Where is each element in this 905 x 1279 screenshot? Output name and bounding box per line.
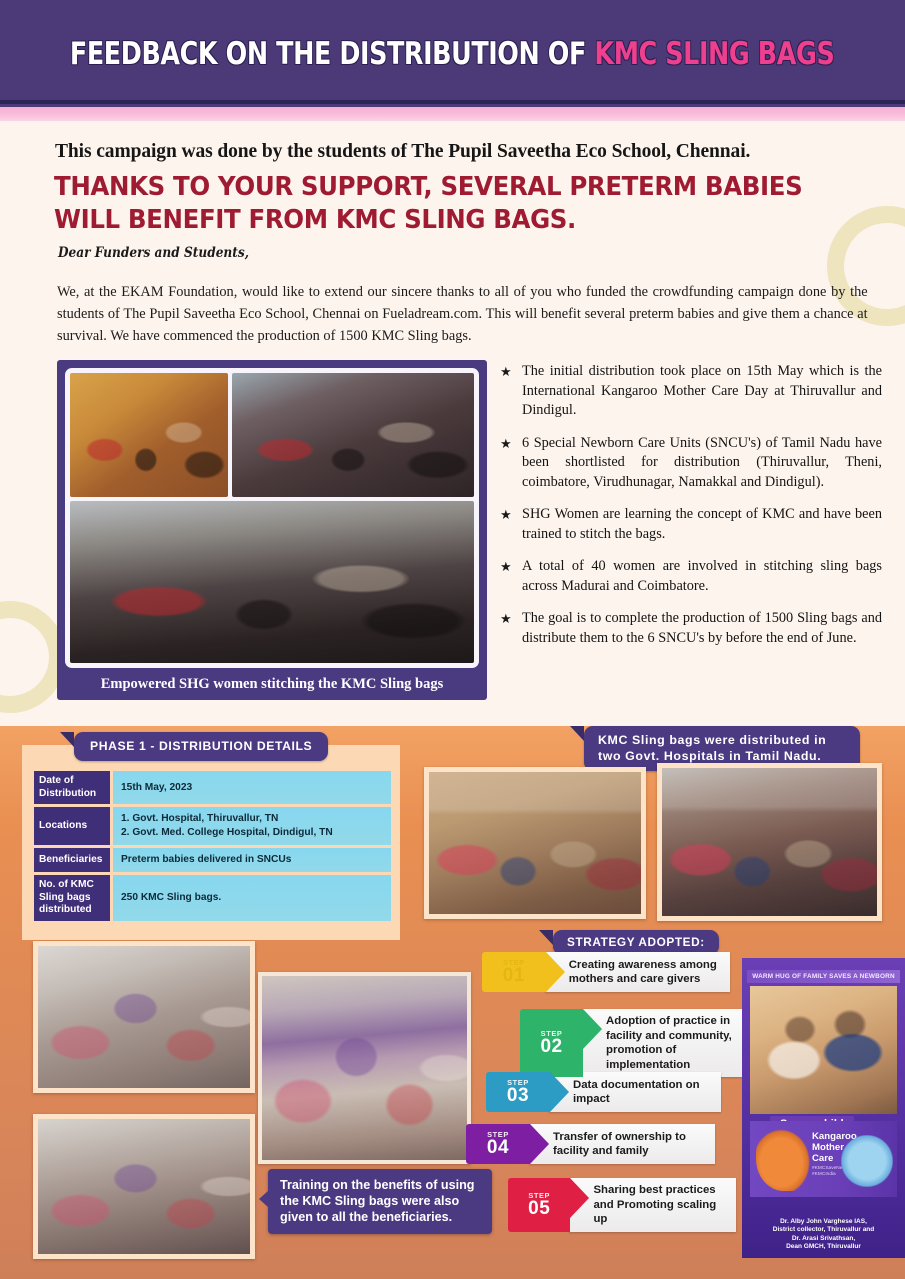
strategy-step-02: STEP 02 Adoption of practice in facility…: [520, 1009, 748, 1077]
step-word: STEP: [528, 1192, 550, 1199]
intro-paragraph: We, at the EKAM Foundation, would like t…: [57, 281, 868, 347]
step-word: STEP: [541, 1030, 563, 1037]
kangaroo-icon: [756, 1127, 812, 1191]
star-icon: ★: [500, 362, 522, 421]
list-item-text: A total of 40 women are involved in stit…: [522, 557, 882, 596]
table-row-value: Preterm babies delivered in SNCUs: [113, 848, 391, 872]
collage-photo-2: [232, 373, 474, 497]
table-row: No. of KMC Sling bags distributed 250 KM…: [34, 875, 391, 921]
highlights-list: ★ The initial distribution took place on…: [500, 362, 882, 661]
page-title-main: FEEDBACK ON THE DISTRIBUTION OF: [70, 36, 595, 72]
list-item: ★ SHG Women are learning the concept of …: [500, 505, 882, 544]
step-word: STEP: [507, 1079, 529, 1086]
table-row-value: 1. Govt. Hospital, Thiruvallur, TN 2. Go…: [113, 807, 391, 845]
table-row-value: 250 KMC Sling bags.: [113, 875, 391, 921]
step-chip: STEP 01: [482, 952, 546, 992]
step-number: 05: [528, 1199, 550, 1218]
salutation: Dear Funders and Students,: [58, 245, 249, 261]
table-row-key: Beneficiaries: [34, 848, 110, 872]
collage-row-bottom: [70, 501, 474, 663]
intro-section: This campaign was done by the students o…: [0, 121, 905, 726]
list-item-text: 6 Special Newborn Care Units (SNCU's) of…: [522, 434, 882, 493]
poster-credits: Dr. Alby John Varghese IAS, District col…: [742, 1218, 905, 1252]
poster-photo: [750, 986, 897, 1114]
slingbags-display-photo: [258, 972, 471, 1164]
photo-image: [38, 1119, 250, 1254]
caption-arrow: [259, 1191, 268, 1207]
photo-image: [429, 772, 641, 914]
step-label: Adoption of practice in facility and com…: [582, 1009, 748, 1077]
strategy-step-03: STEP 03 Data documentation on impact: [486, 1072, 736, 1112]
list-item: ★ A total of 40 women are involved in st…: [500, 557, 882, 596]
star-icon: ★: [500, 434, 522, 493]
list-item-text: The goal is to complete the production o…: [522, 609, 882, 648]
table-row: Locations 1. Govt. Hospital, Thiruvallur…: [34, 807, 391, 845]
pink-band: [0, 107, 905, 121]
step-label: Creating awareness among mothers and car…: [545, 952, 730, 992]
strategy-step-04: STEP 04 Transfer of ownership to facilit…: [466, 1124, 724, 1164]
step-number: 03: [507, 1086, 529, 1105]
header-divider: [0, 100, 905, 104]
kmc-ribbon-label: KMC Sling bags were distributed in two G…: [598, 733, 826, 763]
step-chip: STEP 02: [520, 1009, 583, 1077]
star-icon: ★: [500, 557, 522, 596]
strategy-step-05: STEP 05 Sharing best practices and Promo…: [508, 1178, 736, 1232]
table-row-key: No. of KMC Sling bags distributed: [34, 875, 110, 921]
kmc-awareness-poster: WARM HUG OF FAMILY SAVES A NEWBORN Save …: [742, 958, 905, 1258]
step-word: STEP: [487, 1131, 509, 1138]
phase-ribbon: PHASE 1 - DISTRIBUTION DETAILS: [74, 732, 328, 761]
training-caption: Training on the benefits of using the KM…: [268, 1169, 492, 1234]
step-number: 01: [503, 966, 525, 985]
step-chip: STEP 04: [466, 1124, 530, 1164]
table-row-key: Date of Distribution: [34, 771, 110, 804]
page-title-accent: KMC SLING BAGS: [595, 36, 835, 72]
strategy-steps: STEP 01 Creating awareness among mothers…: [470, 952, 730, 1217]
shg-photo-collage: Empowered SHG women stitching the KMC Sl…: [57, 360, 487, 700]
star-icon: ★: [500, 609, 522, 648]
list-item-text: SHG Women are learning the concept of KM…: [522, 505, 882, 544]
poster-banner-text: WARM HUG OF FAMILY SAVES A NEWBORN: [747, 970, 900, 983]
ribbon-notch: [60, 732, 74, 747]
list-item: ★ The initial distribution took place on…: [500, 362, 882, 421]
step-number: 02: [540, 1037, 562, 1056]
collage-row-top: [70, 373, 474, 497]
strategy-step-01: STEP 01 Creating awareness among mothers…: [482, 952, 730, 992]
step-label: Transfer of ownership to facility and fa…: [529, 1124, 715, 1164]
awareness-photo-1: [33, 941, 255, 1093]
strategy-ribbon-label: STRATEGY ADOPTED:: [567, 935, 705, 949]
collage-photo-3: [70, 501, 474, 663]
step-number: 04: [487, 1138, 509, 1157]
table-row: Date of Distribution 15th May, 2023: [34, 771, 391, 804]
collage-caption: Empowered SHG women stitching the KMC Sl…: [57, 668, 487, 700]
table-row-value: 15th May, 2023: [113, 771, 391, 804]
ribbon-notch: [539, 930, 553, 945]
step-chip: STEP 05: [508, 1178, 570, 1232]
photo-image: [262, 976, 467, 1160]
hospital-photo-thiruvallur: [424, 767, 646, 919]
step-word: STEP: [503, 959, 525, 966]
step-label: Sharing best practices and Promoting sca…: [569, 1178, 736, 1232]
photo-image: [38, 946, 250, 1088]
collage-photo-grid: [65, 368, 479, 668]
awareness-photo-2: [33, 1114, 255, 1259]
photo-image: [662, 768, 877, 916]
star-icon: ★: [500, 505, 522, 544]
baby-illustration-icon: [841, 1135, 893, 1187]
poster-header: FEEDBACK ON THE DISTRIBUTION OF KMC SLIN…: [0, 0, 905, 107]
distribution-details-table: Date of Distribution 15th May, 2023 Loca…: [34, 771, 391, 921]
kmc-logo-block: Kangaroo Mother Care #KMCSaveNewborn #KM…: [750, 1121, 897, 1197]
poster-root: FEEDBACK ON THE DISTRIBUTION OF KMC SLIN…: [0, 0, 905, 1279]
list-item-text: The initial distribution took place on 1…: [522, 362, 882, 421]
list-item: ★ The goal is to complete the production…: [500, 609, 882, 648]
training-caption-text: Training on the benefits of using the KM…: [280, 1178, 475, 1224]
collage-photo-1: [70, 373, 228, 497]
list-item: ★ 6 Special Newborn Care Units (SNCU's) …: [500, 434, 882, 493]
step-chip: STEP 03: [486, 1072, 550, 1112]
ribbon-notch: [570, 726, 584, 741]
step-label: Data documentation on impact: [549, 1072, 721, 1112]
hospital-photo-dindigul: [657, 763, 882, 921]
phase-ribbon-label: PHASE 1 - DISTRIBUTION DETAILS: [90, 739, 312, 753]
page-title: FEEDBACK ON THE DISTRIBUTION OF KMC SLIN…: [70, 36, 834, 72]
thanks-headline: THANKS TO YOUR SUPPORT, SEVERAL PRETERM …: [54, 171, 822, 237]
campaign-credit-line: This campaign was done by the students o…: [55, 141, 885, 163]
table-row-key: Locations: [34, 807, 110, 845]
table-row: Beneficiaries Preterm babies delivered i…: [34, 848, 391, 872]
